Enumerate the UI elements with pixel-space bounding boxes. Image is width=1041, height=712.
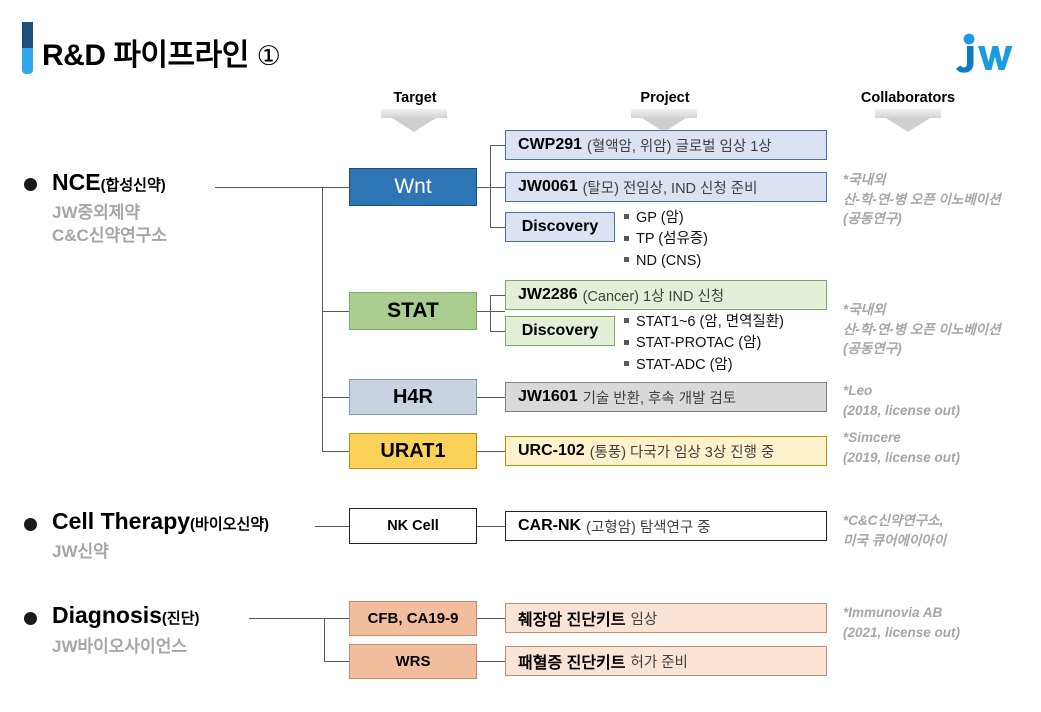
project-desc-car-nk: (고형암) 탐색연구 중 — [586, 516, 710, 537]
category-name-cell-therapy: Cell Therapy — [52, 508, 190, 534]
title-accent-bar-bottom — [22, 48, 33, 74]
collaborator-cell-line-0: *C&C신약연구소, — [843, 511, 946, 531]
collaborator-wnt-line-1: 산-학-연-병 오픈 이노베이션 — [843, 190, 1001, 210]
connector-wnt-to-cwp291 — [490, 145, 506, 146]
square-bullet-icon — [624, 361, 629, 366]
target-box-nk-cell[interactable]: NK Cell — [349, 508, 477, 544]
discovery-item-label: STAT-PROTAC (암) — [636, 335, 761, 351]
connector-wnt-to-discovery — [490, 227, 506, 228]
project-box-urc102[interactable]: URC-102 (통풍) 다국가 임상 3상 진행 중 — [505, 436, 827, 466]
connector-nce-main — [215, 187, 323, 188]
project-box-discovery-stat[interactable]: Discovery — [505, 316, 615, 346]
project-code-jw0061: JW0061 — [518, 178, 578, 196]
connector-diagnosis-main — [249, 618, 325, 619]
category-label-nce: NCE(합성신약) — [52, 169, 166, 196]
connector-stat-trunk — [490, 295, 491, 331]
category-name-diagnosis: Diagnosis — [52, 602, 162, 628]
category-paren-nce: (합성신약) — [101, 177, 166, 194]
square-bullet-icon — [624, 236, 629, 241]
target-box-h4r[interactable]: H4R — [349, 379, 477, 415]
collaborator-urat1-line-0: *Simcere — [843, 428, 960, 448]
collaborator-h4r: *Leo (2018, license out) — [843, 381, 960, 420]
connector-wnt-trunk — [490, 145, 491, 227]
connector-stat-to-jw2286 — [490, 295, 506, 296]
page-title-text: R&D 파이프라인 — [42, 39, 257, 72]
category-sub-diagnosis: JW바이오사이언스 — [52, 636, 187, 659]
project-box-jw1601[interactable]: JW1601 기술 반환, 후속 개발 검토 — [505, 382, 827, 412]
collaborator-diagnosis-line-0: *Immunovia AB — [843, 603, 960, 623]
square-bullet-icon — [624, 214, 629, 219]
target-box-wrs[interactable]: WRS — [349, 644, 477, 679]
discovery-item-wnt-0: GP (암) — [624, 208, 708, 229]
discovery-item-wnt-1: TP (섬유증) — [624, 229, 708, 250]
project-code-jw2286: JW2286 — [518, 286, 578, 304]
square-bullet-icon — [624, 318, 629, 323]
discovery-item-stat-1: STAT-PROTAC (암) — [624, 333, 784, 354]
category-label-cell-therapy: Cell Therapy(바이오신약) — [52, 508, 269, 535]
collaborator-wnt: *국내외 산-학-연-병 오픈 이노베이션 (공동연구) — [843, 170, 1001, 229]
category-sub-nce-2: C&C신약연구소 — [52, 225, 167, 248]
column-header-target: Target — [355, 90, 475, 106]
connector-wrs-to-sepsis — [477, 661, 505, 662]
category-sub-nce-1: JW중외제약 — [52, 202, 140, 225]
category-label-diagnosis: Diagnosis(진단) — [52, 602, 200, 629]
target-box-wnt[interactable]: Wnt — [349, 168, 477, 206]
collaborator-diagnosis: *Immunovia AB (2021, license out) — [843, 603, 960, 642]
collaborator-wnt-line-0: *국내외 — [843, 170, 1001, 190]
connector-cell-to-nkcell — [315, 526, 349, 527]
connector-nce-to-stat — [322, 311, 349, 312]
discovery-item-label: STAT1~6 (암, 면역질환) — [636, 314, 784, 330]
collaborator-urat1: *Simcere (2019, license out) — [843, 428, 960, 467]
collaborator-diagnosis-line-1: (2021, license out) — [843, 623, 960, 643]
connector-h4r-to-jw1601 — [477, 397, 505, 398]
title-accent-bar-top — [22, 22, 33, 48]
connector-nce-to-urat1 — [322, 451, 349, 452]
collaborator-stat-line-2: (공동연구) — [843, 339, 1001, 359]
discovery-item-stat-2: STAT-ADC (암) — [624, 355, 784, 376]
collaborator-h4r-line-0: *Leo — [843, 381, 960, 401]
project-desc-jw0061: (탈모) 전임상, IND 신청 준비 — [583, 177, 758, 198]
connector-urat1-to-urc102 — [477, 451, 505, 452]
connector-cfb-to-pancreas — [477, 618, 505, 619]
bullet-nce — [24, 178, 37, 191]
connector-nkcell-to-carnk — [477, 526, 505, 527]
discovery-item-stat-0: STAT1~6 (암, 면역질환) — [624, 312, 784, 333]
collaborator-cell-therapy: *C&C신약연구소, 미국 큐어에이아이 — [843, 511, 946, 550]
collaborators-arrow-icon — [875, 109, 941, 133]
discovery-item-label: TP (섬유증) — [636, 231, 708, 247]
project-desc-pancreas-kit: 임상 — [631, 608, 658, 629]
collaborator-h4r-line-1: (2018, license out) — [843, 401, 960, 421]
square-bullet-icon — [624, 257, 629, 262]
project-desc-urc102: (통풍) 다국가 임상 3상 진행 중 — [590, 441, 775, 462]
square-bullet-icon — [624, 340, 629, 345]
project-desc-cwp291: (혈액암, 위암) 글로벌 임상 1상 — [587, 135, 772, 156]
collaborator-wnt-line-2: (공동연구) — [843, 209, 1001, 229]
project-box-jw0061[interactable]: JW0061 (탈모) 전임상, IND 신청 준비 — [505, 172, 827, 202]
discovery-item-label: ND (CNS) — [636, 253, 701, 269]
connector-diagnosis-to-cfb — [324, 618, 349, 619]
category-name-nce: NCE — [52, 169, 101, 195]
collaborator-urat1-line-1: (2019, license out) — [843, 448, 960, 468]
project-box-sepsis-kit[interactable]: 패혈증 진단키트 허가 준비 — [505, 646, 827, 676]
discovery-list-stat: STAT1~6 (암, 면역질환) STAT-PROTAC (암) STAT-A… — [624, 312, 784, 376]
target-box-cfb-ca19-9[interactable]: CFB, CA19-9 — [349, 601, 477, 636]
project-code-sepsis-kit: 패혈증 진단키트 — [518, 649, 626, 673]
connector-nce-trunk — [322, 187, 323, 452]
page-title: R&D 파이프라인 ① — [42, 30, 280, 74]
column-header-collaborators: Collaborators — [843, 90, 973, 106]
project-code-car-nk: CAR-NK — [518, 517, 581, 535]
collaborator-stat-line-1: 산-학-연-병 오픈 이노베이션 — [843, 320, 1001, 340]
project-desc-jw2286: (Cancer) 1상 IND 신청 — [583, 285, 725, 306]
connector-nce-to-wnt — [322, 187, 349, 188]
connector-wnt-to-jw0061 — [490, 187, 506, 188]
project-box-discovery-wnt[interactable]: Discovery — [505, 212, 615, 242]
discovery-item-wnt-2: ND (CNS) — [624, 251, 708, 272]
collaborator-stat: *국내외 산-학-연-병 오픈 이노베이션 (공동연구) — [843, 300, 1001, 359]
category-paren-cell-therapy: (바이오신약) — [190, 516, 269, 533]
project-code-pancreas-kit: 췌장암 진단키트 — [518, 606, 626, 630]
target-box-urat1[interactable]: URAT1 — [349, 433, 477, 469]
page-number-badge: ① — [257, 41, 281, 71]
project-box-cwp291[interactable]: CWP291 (혈액암, 위암) 글로벌 임상 1상 — [505, 130, 827, 160]
discovery-item-label: STAT-ADC (암) — [636, 357, 733, 373]
connector-diagnosis-to-wrs — [324, 661, 349, 662]
discovery-list-wnt: GP (암) TP (섬유증) ND (CNS) — [624, 208, 708, 272]
collaborator-cell-line-1: 미국 큐어에이아이 — [843, 531, 946, 551]
project-desc-jw1601: 기술 반환, 후속 개발 검토 — [583, 387, 737, 408]
project-code-jw1601: JW1601 — [518, 388, 578, 406]
bullet-diagnosis — [24, 612, 37, 625]
project-box-jw2286[interactable]: JW2286 (Cancer) 1상 IND 신청 — [505, 280, 827, 310]
connector-stat-to-discovery — [490, 331, 506, 332]
jw-logo — [953, 32, 1025, 74]
project-code-cwp291: CWP291 — [518, 136, 582, 154]
bullet-cell-therapy — [24, 518, 37, 531]
category-paren-diagnosis: (진단) — [162, 610, 200, 627]
target-box-stat[interactable]: STAT — [349, 292, 477, 330]
collaborator-stat-line-0: *국내외 — [843, 300, 1001, 320]
discovery-item-label: GP (암) — [636, 210, 684, 226]
project-box-car-nk[interactable]: CAR-NK (고형암) 탐색연구 중 — [505, 511, 827, 541]
project-code-urc102: URC-102 — [518, 442, 585, 460]
connector-nce-to-h4r — [322, 397, 349, 398]
project-box-pancreas-kit[interactable]: 췌장암 진단키트 임상 — [505, 603, 827, 633]
target-arrow-icon — [381, 109, 447, 133]
category-sub-cell-therapy: JW신약 — [52, 541, 109, 564]
column-header-project: Project — [605, 90, 725, 106]
project-desc-sepsis-kit: 허가 준비 — [631, 651, 688, 672]
connector-diagnosis-trunk — [324, 618, 325, 662]
